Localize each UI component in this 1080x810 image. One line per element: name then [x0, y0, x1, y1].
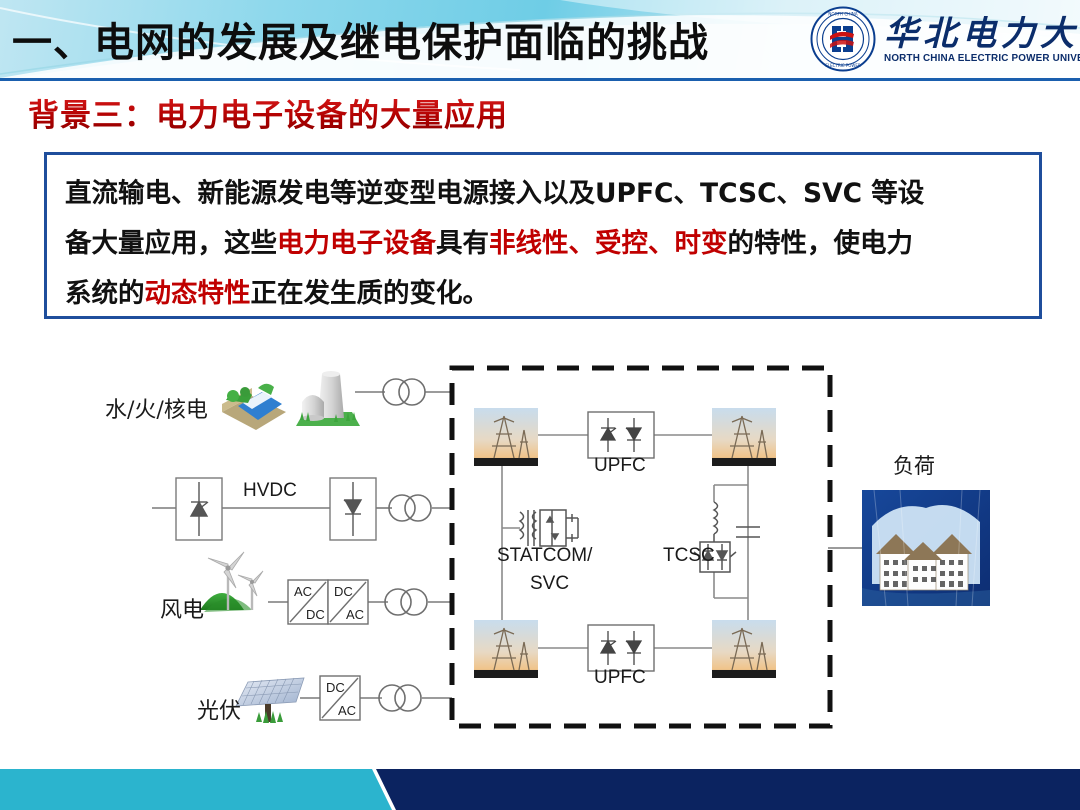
emphasis-text: 电力电子设备: [277, 228, 436, 259]
header-band: 一、电网的发展及继电保护面临的挑战 NORTH CHINA ELECTRIC P…: [0, 0, 1080, 80]
university-seal-icon: NORTH CHINA ELECTRIC POWER: [810, 6, 876, 72]
device-label-tcsc: TCSC: [663, 545, 715, 567]
transformer-symbols: [379, 379, 431, 711]
tower-bottom-right: [712, 620, 776, 678]
content-textbox: 直流输电、新能源发电等逆变型电源接入以及UPFC、TCSC、SVC 等设 备大量…: [44, 152, 1042, 319]
cooling-tower-icon: [296, 371, 360, 426]
tower-top-left: [474, 408, 538, 466]
load-label: 负荷: [893, 450, 935, 480]
source-label-pv: 光伏: [197, 693, 241, 725]
logo-name-en: NORTH CHINA ELECTRIC POWER UNIVERSITY: [884, 52, 1080, 64]
textbox-line-1: 直流输电、新能源发电等逆变型电源接入以及UPFC、TCSC、SVC 等设: [65, 169, 1021, 219]
svg-text:NORTH CHINA: NORTH CHINA: [828, 12, 858, 17]
solar-panel-icon: [236, 678, 304, 723]
converter-label-dc: DC: [306, 607, 325, 622]
university-logo: NORTH CHINA ELECTRIC POWER 华北电力大学 NORTH …: [810, 4, 1068, 76]
bottom-bar-navy-segment: [376, 769, 1080, 810]
emphasis-text: 动态特性: [145, 278, 251, 309]
hydro-dam-icon: [222, 384, 286, 430]
page-title: 一、电网的发展及继电保护面临的挑战: [12, 8, 812, 70]
device-label-statcom-svc-line2: SVC: [530, 573, 569, 595]
statcom-svc-symbol: [520, 510, 578, 546]
power-system-diagram: 水/火/核电 HVDC 风电 光伏 负荷 UPFC UPFC STATCOM/ …: [0, 330, 1080, 750]
section-subtitle: 背景三：电力电子设备的大量应用: [28, 90, 508, 135]
source-label-hydro-thermal-nuclear: 水/火/核电: [105, 392, 208, 424]
body-text: 具有: [436, 228, 489, 259]
converter-label-dc-2: DC: [334, 584, 353, 599]
source-label-hvdc: HVDC: [243, 480, 297, 502]
textbox-line-2: 备大量应用，这些电力电子设备具有非线性、受控、时变的特性，使电力: [65, 219, 1021, 269]
source-label-wind: 风电: [160, 592, 204, 624]
emphasis-text: 非线性、受控、时变: [489, 228, 728, 259]
body-text: 的特性，使电力: [728, 228, 914, 259]
svg-text:ELECTRIC POWER: ELECTRIC POWER: [825, 63, 861, 68]
logo-name-cn: 华北电力大学: [884, 6, 1080, 55]
textbox-line-3: 系统的动态特性正在发生质的变化。: [65, 269, 1021, 319]
upfc-block-top: [588, 412, 654, 458]
device-label-upfc-top: UPFC: [594, 455, 646, 477]
body-text: 正在发生质的变化。: [251, 278, 490, 309]
load-buildings-image: [862, 490, 990, 606]
header-rule: [0, 78, 1080, 81]
converter-label-dc-pv: DC: [326, 680, 345, 695]
slide-canvas: 一、电网的发展及继电保护面临的挑战 NORTH CHINA ELECTRIC P…: [0, 0, 1080, 810]
bottom-bar-cyan-segment: [0, 769, 392, 810]
wind-turbine-icon: [200, 552, 263, 612]
device-label-statcom-svc-line1: STATCOM/: [497, 545, 592, 567]
device-label-upfc-bottom: UPFC: [594, 667, 646, 689]
converter-label-ac: AC: [294, 584, 312, 599]
tower-top-right: [712, 408, 776, 466]
body-text: 系统的: [65, 278, 145, 309]
body-text: 备大量应用，这些: [65, 228, 277, 259]
upfc-block-bottom: [588, 625, 654, 671]
body-text: 直流输电、新能源发电等逆变型电源接入以及UPFC、TCSC、SVC 等设: [65, 178, 924, 209]
tower-bottom-left: [474, 620, 538, 678]
converter-label-ac-pv: AC: [338, 703, 356, 718]
converter-label-ac-2: AC: [346, 607, 364, 622]
bottom-decoration-bar: [0, 755, 1080, 810]
